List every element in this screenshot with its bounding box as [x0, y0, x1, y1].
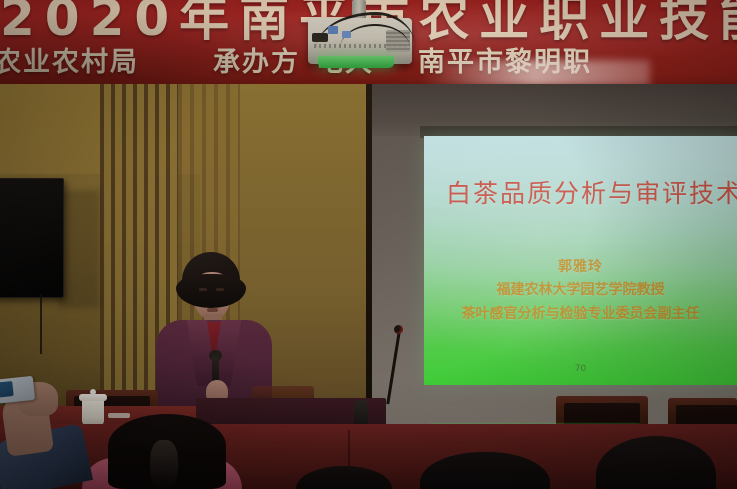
- slide-title: 白茶品质分析与审评技术: [446, 174, 737, 210]
- teacup-lid: [79, 394, 107, 401]
- banner-segment-1: 农业农村局: [0, 40, 139, 79]
- projected-slide: 白茶品质分析与审评技术 郭雅玲 福建农林大学园艺学院教授 茶叶感官分析与检验专业…: [424, 136, 737, 385]
- smartphone-screen: [0, 381, 14, 398]
- teacup-body: [82, 398, 104, 425]
- projector-connector-blue-1: [328, 26, 338, 34]
- floor-microphone-head: [394, 325, 403, 334]
- tv-cable: [40, 294, 42, 354]
- banner-light-glare: [420, 60, 650, 84]
- audience-hair-strand: [150, 440, 178, 489]
- slide-presenter-affiliation: 福建农林大学园艺学院教授: [424, 279, 737, 299]
- speaker-eye-right: [216, 288, 224, 291]
- speaker-hair-back: [176, 274, 246, 308]
- wall-mounted-tv: [0, 178, 64, 298]
- speaker-eye-left: [199, 288, 207, 291]
- tv-shadow: [58, 190, 100, 308]
- speaker-mouth: [207, 308, 218, 312]
- slide-page-number: 70: [424, 364, 737, 374]
- banner-segment-2: 承办方: [213, 40, 300, 79]
- teacup-knob: [90, 389, 96, 395]
- table-small-object: [108, 413, 130, 418]
- slide-presenter-role: 茶叶感官分析与检验专业委员会副主任: [424, 303, 737, 323]
- lecture-hall-photo: 2020年南平市农业职业技能 农业农村局 承办方 电大 南平市黎明职 白茶品质分…: [0, 0, 737, 489]
- projector-connector-blue-2: [342, 31, 351, 38]
- slide-presenter-name: 郭雅玲: [424, 256, 737, 276]
- projector-plug: [312, 33, 328, 42]
- projector-lens-glow: [318, 56, 394, 68]
